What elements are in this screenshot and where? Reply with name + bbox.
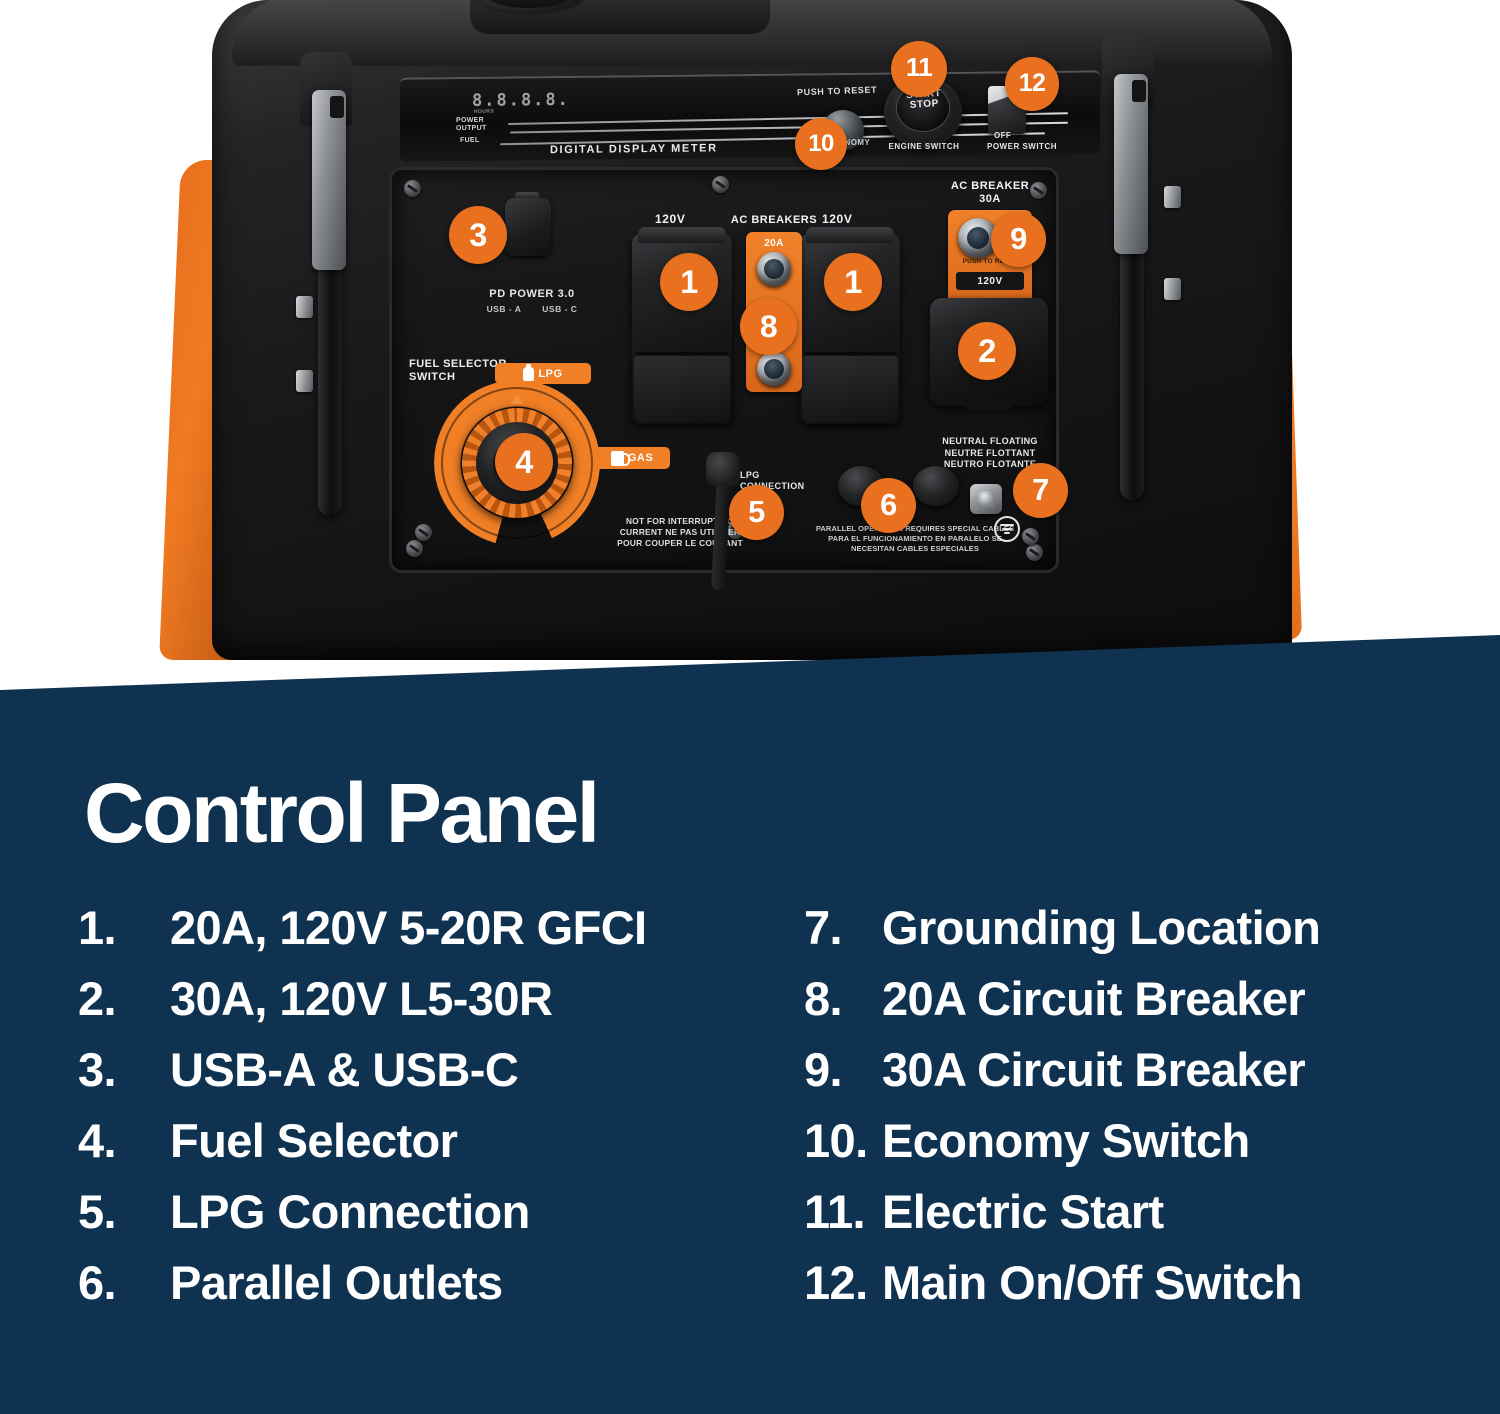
outlet-left-lower-face [634,356,730,422]
gas-pump-icon [611,451,624,466]
legend-item-label: Main On/Off Switch [882,1255,1302,1310]
legend-item: 9.30A Circuit Breaker [804,1042,1468,1097]
engine-switch-caption: ENGINE SWITCH [884,142,964,151]
legend-item: 5.LPG Connection [78,1184,742,1239]
legend-item: 10.Economy Switch [804,1113,1468,1168]
handle-bolt-right-lower [1164,278,1181,300]
callout-badge-4: 4 [495,433,553,491]
callout-badge-8: 8 [740,298,797,355]
legend-item-number: 4. [78,1113,170,1168]
outlet-left-divider [636,352,728,355]
legend-item-number: 3. [78,1042,170,1097]
callout-badge-1: 1 [824,253,882,311]
breaker-20a-top-label: 20A [746,238,802,249]
callout-badge-2: 2 [958,322,1016,380]
meter-hours-label: HOURS [474,109,494,115]
callout-badge-10: 10 [795,118,847,170]
legend-item-number: 5. [78,1184,170,1239]
legend-item: 4.Fuel Selector [78,1113,742,1168]
legend-item-label: Electric Start [882,1184,1164,1239]
outlet-left-cover [638,227,726,243]
callout-badge-7: 7 [1013,463,1068,518]
handle-notch-right [1132,80,1146,102]
legend-column-left: 1.20A, 120V 5-20R GFCI2.30A, 120V L5-30R… [78,900,742,1326]
handle-bolt-left-lower [296,370,313,392]
propane-tank-icon [523,367,534,381]
usb-a-label: USB - A [487,304,522,314]
legend-item-number: 9. [804,1042,882,1097]
legend-panel: Control Panel 1.20A, 120V 5-20R GFCI2.30… [0,600,1500,1414]
panel-screw-top-center [712,176,729,193]
legend-item-label: 30A, 120V L5-30R [170,971,552,1026]
ac-breakers-label: AC BREAKERS [728,214,820,226]
legend-item-label: 30A Circuit Breaker [882,1042,1305,1097]
legend-item-number: 7. [804,900,882,955]
legend-item-label: 20A Circuit Breaker [882,971,1305,1026]
panel-screw-top-left [404,180,421,197]
meter-title: DIGITAL DISPLAY METER [550,142,718,156]
product-photo: 8.8.8.8. HOURS POWER OUTPUT FUEL DIGITAL… [0,0,1500,700]
legend-column-right: 7.Grounding Location8.20A Circuit Breake… [804,900,1468,1326]
usb-c-label: USB - C [542,304,577,314]
legend-item-label: Economy Switch [882,1113,1250,1168]
legend-item: 1.20A, 120V 5-20R GFCI [78,900,742,955]
left-120v-label: 120V [655,212,685,226]
grounding-screw [1022,528,1039,545]
callout-badge-5: 5 [729,485,784,540]
power-output-label: POWER OUTPUT [456,117,487,133]
legend-columns: 1.20A, 120V 5-20R GFCI2.30A, 120V L5-30R… [78,900,1468,1326]
lpg-connection-port[interactable] [706,452,740,486]
right-120v-label: 120V [822,212,852,226]
callout-badge-1: 1 [660,253,718,311]
callout-badge-9: 9 [991,212,1046,267]
legend-item: 12.Main On/Off Switch [804,1255,1468,1310]
legend-item-number: 6. [78,1255,170,1310]
fuel-gauge-label: FUEL [460,137,479,145]
parallel-outlet-right[interactable] [913,466,959,506]
callout-badge-6: 6 [861,478,916,533]
legend-item-number: 12. [804,1255,882,1310]
circuit-breaker-20a-top[interactable] [757,252,791,286]
parallel-line-2: PARA EL FUNCIONAMIENTO EN PARALELO SE [810,534,1020,544]
handle-bolt-right-upper [1164,186,1181,208]
earth-ground-icon [994,516,1020,542]
legend-item: 7.Grounding Location [804,900,1468,955]
panel-screw-bottom-right [1026,544,1043,561]
legend-item: 3.USB-A & USB-C [78,1042,742,1097]
handle-notch-left [330,96,344,118]
legend-item-label: USB-A & USB-C [170,1042,518,1097]
legend-item-label: Parallel Outlets [170,1255,503,1310]
handle-bolt-left-upper [296,296,313,318]
power-output-bar-2 [510,122,1068,134]
legend-item: 8.20A Circuit Breaker [804,971,1468,1026]
fuel-selector-line2: SWITCH [409,371,507,384]
fuel-selector-pointer-icon [511,394,523,404]
usb-port-cover[interactable] [505,198,551,256]
ac-breaker-30a-line1: AC BREAKER [930,180,1050,193]
outlet-right-cover [806,227,894,243]
lpg-tag-label: LPG [538,368,562,380]
fuel-selector-label: FUEL SELECTOR SWITCH [409,358,507,384]
panel-screw-bottom-left [406,540,423,557]
legend-item-number: 10. [804,1113,882,1168]
legend-item-label: 20A, 120V 5-20R GFCI [170,900,647,955]
legend-item: 11.Electric Start [804,1184,1468,1239]
usb-types-label: USB - A USB - C [460,304,604,314]
page-title: Control Panel [84,765,598,862]
grounding-lug[interactable] [970,484,1002,514]
callout-badge-3: 3 [449,206,507,264]
outlet-right-lower-face [802,356,898,422]
gas-tag-label: GAS [628,452,653,464]
pd-power-label: PD POWER 3.0 [460,288,604,300]
neutral-floating-line1: NEUTRAL FLOATING [920,436,1060,448]
legend-item-number: 8. [804,971,882,1026]
legend-item-number: 11. [804,1184,882,1239]
power-switch-caption: POWER SWITCH [974,142,1070,151]
parallel-operation-text: PARALLEL OPERATION REQUIRES SPECIAL CABL… [810,524,1020,554]
fuel-selector-line1: FUEL SELECTOR [409,358,507,371]
gas-position-tag: GAS [594,447,670,469]
circuit-breaker-20a-bottom[interactable] [757,352,791,386]
ac-breaker-30a-line2: 30A [930,193,1050,206]
outlet-right-divider [804,352,896,355]
callout-badge-11: 11 [891,41,947,97]
power-output-line2: OUTPUT [456,125,487,133]
legend-item-label: LPG Connection [170,1184,530,1239]
power-switch-off-label: OFF [994,131,1011,140]
ac-breaker-30a-label: AC BREAKER 30A [930,180,1050,206]
legend-item-label: Fuel Selector [170,1113,457,1168]
legend-item-number: 1. [78,900,170,955]
neutral-floating-line2: NEUTRE FLOTTANT [920,448,1060,460]
parallel-line-1: PARALLEL OPERATION REQUIRES SPECIAL CABL… [810,524,1020,534]
parallel-line-3: NECESITAN CABLES ESPECIALES [810,544,1020,554]
legend-item: 2.30A, 120V L5-30R [78,971,742,1026]
warning-line-3: POUR COUPER LE COURANT [600,538,760,549]
l5-30r-120v-tag: 120V [956,272,1024,290]
lpg-position-tag: LPG [495,363,591,384]
legend-item-label: Grounding Location [882,900,1320,955]
legend-item: 6.Parallel Outlets [78,1255,742,1310]
fuel-selector-screw [415,524,432,541]
callout-badge-12: 12 [1005,57,1059,111]
legend-item-number: 2. [78,971,170,1026]
